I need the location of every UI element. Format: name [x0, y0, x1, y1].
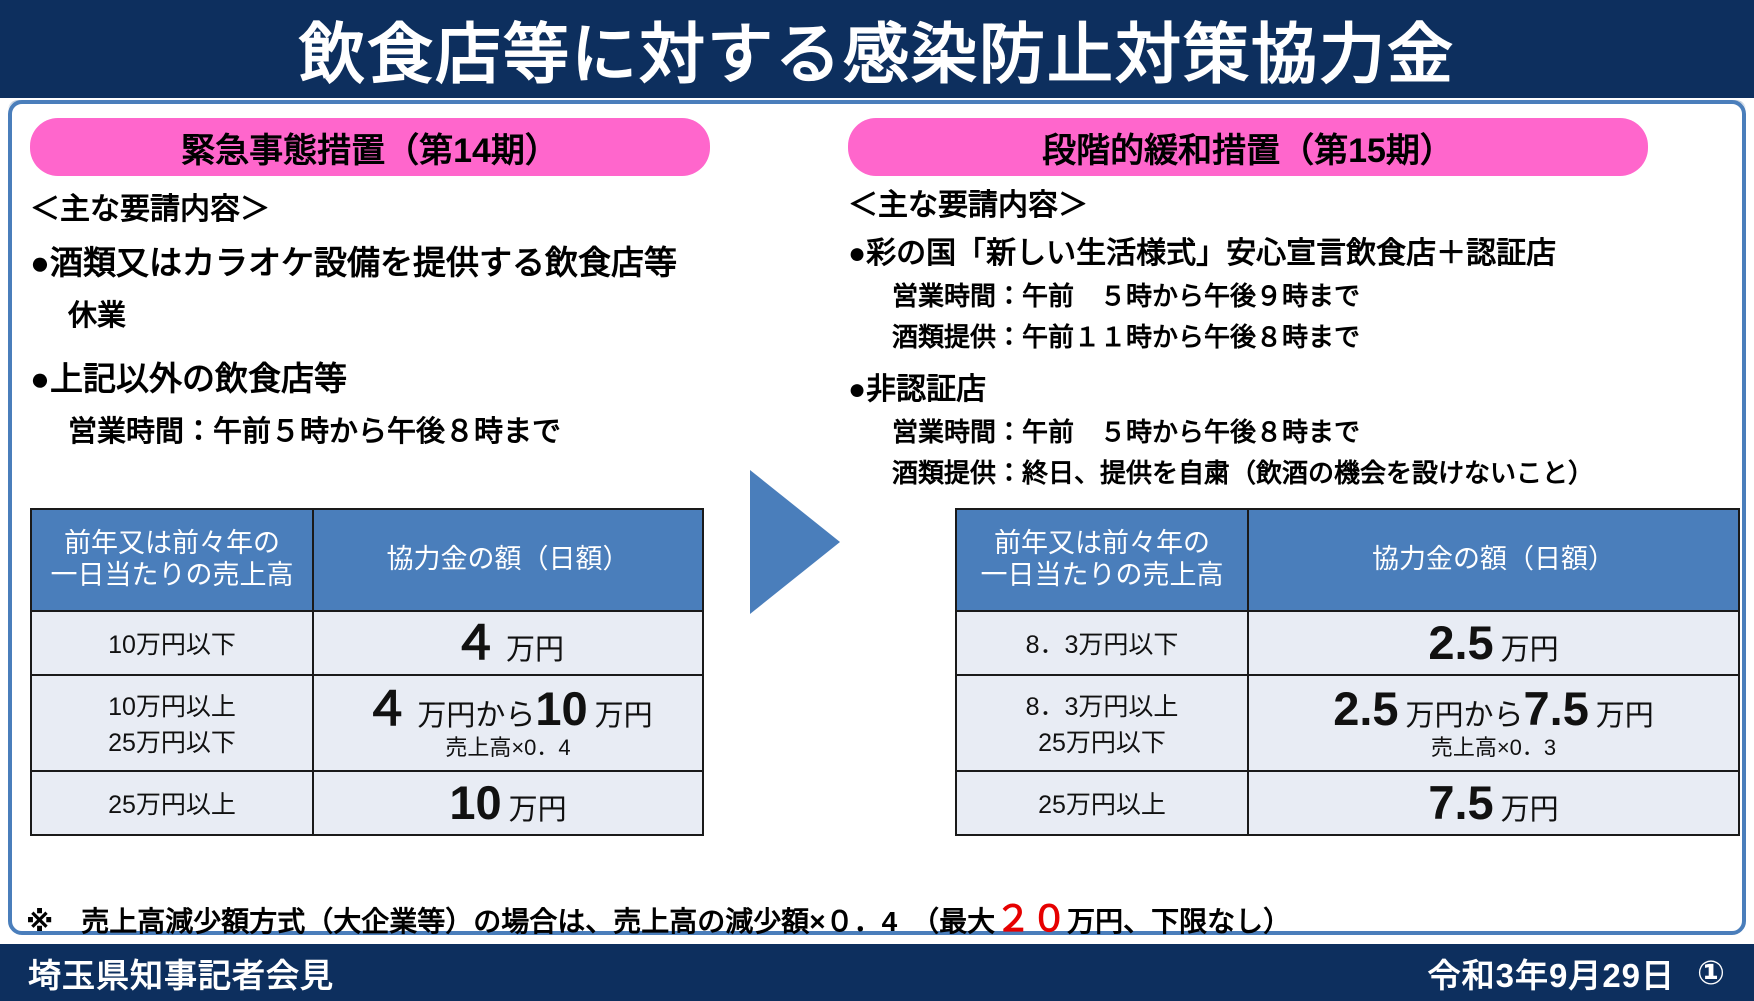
left-bullet-2-text: 上記以外の飲食店等	[50, 360, 347, 397]
left-row1-amount: ４ 万円	[313, 611, 703, 675]
table-row: 25万円以上 10 万円	[31, 771, 703, 835]
table-row: 10万円以上 25万円以下 ４ 万円から10 万円 売上高×0．4	[31, 675, 703, 771]
amount-unit-max: 万円	[1596, 700, 1654, 732]
right-table-header-amount: 協力金の額（日額）	[1248, 509, 1739, 611]
amount-wrap: 2.5 万円から7.5 万円	[1333, 703, 1654, 731]
page-title: 飲食店等に対する感染防止対策協力金	[299, 1, 1455, 97]
bullet-marker-icon: ●	[30, 360, 50, 397]
header-line-1: 前年又は前々年の	[994, 528, 1210, 558]
amount-wrap: 2.5 万円	[1428, 637, 1558, 665]
amount-unit: 万円	[509, 794, 567, 826]
amount-unit: 万円	[1501, 634, 1559, 666]
left-row2-amount: ４ 万円から10 万円 売上高×0．4	[313, 675, 703, 771]
footer-source: 埼玉県知事記者会見	[28, 949, 334, 997]
table-row: 8．3万円以上 25万円以下 2.5 万円から7.5 万円 売上高×0．3	[956, 675, 1739, 771]
header-line-1: 前年又は前々年の	[64, 528, 280, 558]
left-bullet-1: ●酒類又はカラオケ設備を提供する飲食店等	[30, 236, 730, 284]
amount-connector: から	[1464, 699, 1524, 732]
panel-emergency-measures: 緊急事態措置（第14期） ＜主な要請内容＞ ●酒類又はカラオケ設備を提供する飲食…	[30, 118, 730, 450]
panel-phased-relaxation: 段階的緩和措置（第15期） ＜主な要請内容＞ ●彩の国「新しい生活様式」安心宣言…	[848, 118, 1738, 490]
amount-unit: 万円	[506, 634, 564, 666]
header-line-2: 一日当たりの売上高	[51, 560, 294, 590]
left-bullet-2: ●上記以外の飲食店等	[30, 352, 730, 400]
right-table-header-sales: 前年又は前々年の 一日当たりの売上高	[956, 509, 1248, 611]
amount-value-max: 7.5	[1524, 682, 1589, 735]
amount-connector: から	[475, 699, 535, 732]
table-row: 8．3万円以下 2.5 万円	[956, 611, 1739, 675]
table-row: 10万円以下 ４ 万円	[31, 611, 703, 675]
panel-left-heading: 緊急事態措置（第14期）	[30, 118, 710, 176]
panel-left-body: ＜主な要請内容＞ ●酒類又はカラオケ設備を提供する飲食店等 休業 ●上記以外の飲…	[30, 184, 730, 450]
right-bullet-2-text: 非認証店	[866, 373, 986, 406]
right-bullet-1-sub-1: 営業時間：午前 ５時から午後９時まで	[848, 276, 1738, 313]
amount-value-min: 2.5	[1333, 682, 1398, 735]
bullet-marker-icon: ●	[848, 373, 866, 406]
right-bullet-2-sub-1: 営業時間：午前 ５時から午後８時まで	[848, 412, 1738, 449]
right-row1-range: 8．3万円以下	[956, 611, 1248, 675]
right-row3-amount: 7.5 万円	[1248, 771, 1739, 835]
amount-wrap: ４ 万円	[452, 637, 564, 665]
panel-right-body: ＜主な要請内容＞ ●彩の国「新しい生活様式」安心宣言飲食店＋認証店 営業時間：午…	[848, 180, 1738, 490]
right-row3-range: 25万円以上	[956, 771, 1248, 835]
footnote-prefix: ※ 売上高減少額方式（大企業等）の場合は、売上高の減少額×０．4 （最大	[26, 906, 995, 937]
amount-value: 7.5	[1428, 776, 1493, 829]
right-arrow-icon	[750, 470, 840, 614]
table-header-row: 前年又は前々年の 一日当たりの売上高 協力金の額（日額）	[31, 509, 703, 611]
slide-title-bar: 飲食店等に対する感染防止対策協力金	[0, 0, 1754, 98]
bullet-marker-icon: ●	[848, 237, 866, 270]
amount-wrap: 10 万円	[449, 797, 566, 825]
right-bullet-2-sub-2: 酒類提供：終日、提供を自粛（飲酒の機会を設けないこと）	[848, 453, 1738, 490]
slide-root: 飲食店等に対する感染防止対策協力金 緊急事態措置（第14期） ＜主な要請内容＞ …	[0, 0, 1754, 1001]
amount-value-max: 10	[535, 682, 587, 735]
range-line-1: 8．3万円以上	[1026, 693, 1179, 721]
right-row2-formula: 売上高×0．3	[1251, 730, 1736, 762]
footer-meta: 令和3年9月29日 ①	[1428, 949, 1726, 997]
right-bullet-1-text: 彩の国「新しい生活様式」安心宣言飲食店＋認証店	[866, 237, 1556, 270]
table-subsidy-emergency: 前年又は前々年の 一日当たりの売上高 協力金の額（日額） 10万円以下 ４ 万円…	[30, 508, 704, 836]
footnote: ※ 売上高減少額方式（大企業等）の場合は、売上高の減少額×０．4 （最大２０万円…	[26, 890, 1726, 942]
amount-unit-min: 万円	[417, 700, 475, 732]
left-row3-range: 25万円以上	[31, 771, 313, 835]
left-row2-range: 10万円以上 25万円以下	[31, 675, 313, 771]
amount-unit-max: 万円	[595, 700, 653, 732]
amount-value: ４	[452, 616, 499, 669]
left-row3-amount: 10 万円	[313, 771, 703, 835]
right-bullet-1-sub-2: 酒類提供：午前１１時から午後８時まで	[848, 317, 1738, 354]
left-row1-range: 10万円以下	[31, 611, 313, 675]
left-bullet-2-sub-1: 営業時間：午前５時から午後８時まで	[30, 408, 730, 450]
table-header-row: 前年又は前々年の 一日当たりの売上高 協力金の額（日額）	[956, 509, 1739, 611]
left-table-header-sales: 前年又は前々年の 一日当たりの売上高	[31, 509, 313, 611]
footnote-max-amount: ２０	[995, 898, 1067, 939]
amount-value: 10	[449, 776, 501, 829]
amount-value: 2.5	[1428, 616, 1493, 669]
footnote-suffix: 万円、下限なし）	[1067, 906, 1291, 937]
table-subsidy-relaxation: 前年又は前々年の 一日当たりの売上高 協力金の額（日額） 8．3万円以下 2.5…	[955, 508, 1740, 836]
left-bullet-1-sub-1: 休業	[30, 292, 730, 334]
right-bullet-1: ●彩の国「新しい生活様式」安心宣言飲食店＋認証店	[848, 228, 1738, 272]
right-section-label: ＜主な要請内容＞	[848, 180, 1738, 224]
slide-footer: 埼玉県知事記者会見 令和3年9月29日 ①	[0, 944, 1754, 1001]
amount-unit-min: 万円	[1405, 700, 1463, 732]
range-line-2: 25万円以下	[1038, 729, 1166, 757]
table-row: 25万円以上 7.5 万円	[956, 771, 1739, 835]
amount-wrap: ４ 万円から10 万円	[363, 703, 652, 731]
amount-value-min: ４	[363, 682, 410, 735]
right-row1-amount: 2.5 万円	[1248, 611, 1739, 675]
left-table-header-amount: 協力金の額（日額）	[313, 509, 703, 611]
right-row2-range: 8．3万円以上 25万円以下	[956, 675, 1248, 771]
bullet-marker-icon: ●	[30, 244, 50, 281]
range-line-2: 25万円以下	[108, 729, 236, 757]
left-bullet-1-text: 酒類又はカラオケ設備を提供する飲食店等	[50, 244, 677, 281]
right-bullet-2: ●非認証店	[848, 364, 1738, 408]
footer-page-number: ①	[1697, 953, 1726, 992]
amount-unit: 万円	[1501, 794, 1559, 826]
panel-right-heading: 段階的緩和措置（第15期）	[848, 118, 1648, 176]
right-row2-amount: 2.5 万円から7.5 万円 売上高×0．3	[1248, 675, 1739, 771]
amount-wrap: 7.5 万円	[1428, 797, 1558, 825]
left-section-label: ＜主な要請内容＞	[30, 184, 730, 228]
range-line-1: 10万円以上	[108, 693, 236, 721]
header-line-2: 一日当たりの売上高	[981, 560, 1224, 590]
footer-date: 令和3年9月29日	[1428, 949, 1675, 997]
